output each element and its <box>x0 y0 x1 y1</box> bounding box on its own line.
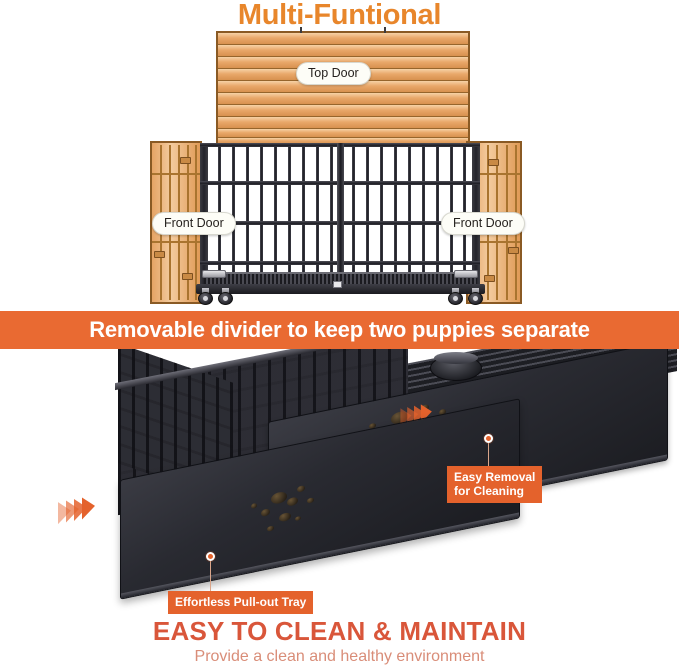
page-title: Multi-Funtional <box>0 0 679 32</box>
debris-dirt-icon <box>295 516 301 521</box>
tray-clip[interactable] <box>454 270 478 278</box>
footer-section: EASY TO CLEAN & MAINTAIN Provide a clean… <box>0 616 679 669</box>
label-easy-removal-line1: Easy Removal <box>454 470 535 484</box>
door-latch-icon[interactable] <box>484 275 495 282</box>
slat <box>218 33 468 44</box>
caster-wheel-icon <box>218 288 233 305</box>
door-latch-icon[interactable] <box>180 157 191 164</box>
tray-clip[interactable] <box>202 270 226 278</box>
debris-dirt-icon <box>307 497 314 503</box>
cage-bar <box>366 143 369 293</box>
debris-dirt-icon <box>271 491 287 505</box>
caster-hub <box>203 296 208 301</box>
cage-body <box>200 143 480 293</box>
cage-bar <box>352 143 355 293</box>
top-door-panel[interactable] <box>216 31 470 146</box>
debris-dirt-icon <box>261 508 270 517</box>
callout-top-door: Top Door <box>296 62 371 85</box>
cage-bar <box>302 143 305 293</box>
cage-base <box>196 272 485 294</box>
cage-bar <box>380 143 383 293</box>
debris-dirt-icon <box>267 525 274 531</box>
feature-banner: Removable divider to keep two puppies se… <box>0 311 679 349</box>
cage-bar <box>288 143 291 293</box>
label-easy-removal: Easy Removal for Cleaning <box>447 466 542 503</box>
caster-hub <box>473 296 478 301</box>
door-latch-icon[interactable] <box>154 251 165 258</box>
caster-hub <box>453 296 458 301</box>
footer-heading: EASY TO CLEAN & MAINTAIN <box>0 616 679 647</box>
caster-wheel-icon <box>448 288 463 305</box>
slat <box>218 129 468 137</box>
caster-hub <box>223 296 228 301</box>
label-pullout-tray: Effortless Pull-out Tray <box>168 591 313 614</box>
callout-leader-line <box>210 561 211 592</box>
tray-knob[interactable] <box>333 281 342 288</box>
pull-direction-arrows-left <box>58 496 90 524</box>
footer-subheading: Provide a clean and healthy environment <box>0 648 679 666</box>
cage-bar <box>422 143 425 293</box>
cage-bar <box>246 143 249 293</box>
door-latch-icon[interactable] <box>182 273 193 280</box>
cage-bar <box>436 143 439 293</box>
slat <box>218 45 468 56</box>
debris-dirt-icon <box>251 503 257 509</box>
debris-dirt-icon <box>287 496 298 506</box>
debris-dirt-icon <box>279 512 291 522</box>
door-latch-icon[interactable] <box>488 159 499 166</box>
removable-divider-post[interactable] <box>337 143 344 293</box>
label-easy-removal-line2: for Cleaning <box>454 484 524 498</box>
slat <box>218 117 468 128</box>
door-latch-icon[interactable] <box>508 247 519 254</box>
caster-wheel-icon <box>468 288 483 305</box>
banner-text: Removable divider to keep two puppies se… <box>89 317 590 343</box>
multifunctional-section: Multi-Funtional <box>0 0 679 308</box>
chevron-right-arrow-icon <box>74 496 87 521</box>
cage-bar <box>330 143 333 293</box>
clean-maintain-section <box>0 349 679 619</box>
tray-lip <box>121 513 519 599</box>
cage-bar <box>260 143 263 293</box>
cage-bar <box>394 143 397 293</box>
food-bowl-rim <box>434 352 478 364</box>
caster-wheel-icon <box>198 288 213 305</box>
debris-dirt-icon <box>297 485 305 493</box>
cage-bar <box>274 143 277 293</box>
cage-bar <box>316 143 319 293</box>
callout-front-door-right: Front Door <box>441 212 525 235</box>
callout-marker-dot-icon <box>206 552 215 561</box>
cage-bar <box>408 143 411 293</box>
callout-marker-dot-icon <box>484 434 493 443</box>
slat <box>218 105 468 116</box>
callout-leader-line <box>488 443 489 467</box>
callout-front-door-left: Front Door <box>152 212 236 235</box>
slat <box>218 93 468 104</box>
